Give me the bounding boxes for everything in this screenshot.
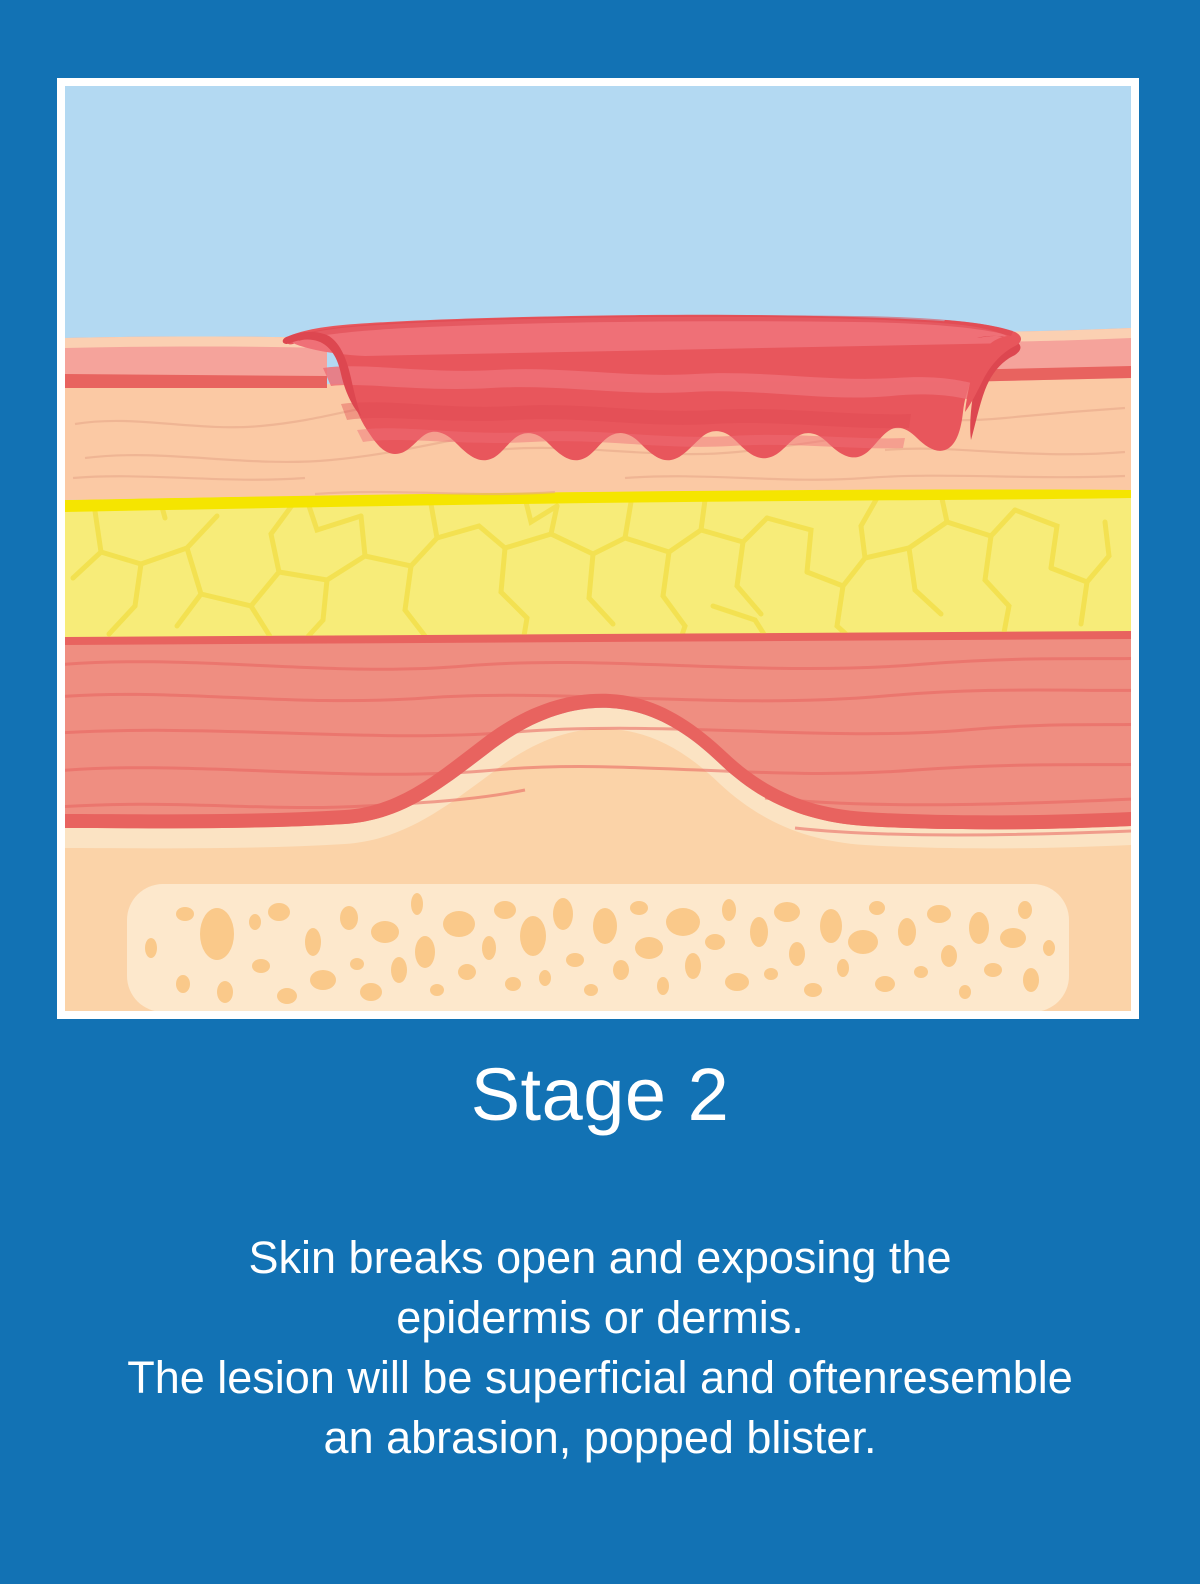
layer-bone-marrow [127,884,1069,1011]
description-line-4: an abrasion, popped blister. [40,1408,1160,1468]
caption-block: Stage 2 Skin breaks open and exposing th… [0,1058,1200,1467]
description-line-3: The lesion will be superficial and often… [40,1348,1160,1408]
stage-description: Skin breaks open and exposing the epider… [0,1228,1200,1467]
skin-cross-section-illustration [65,86,1131,1011]
illustration-frame [57,78,1139,1019]
description-line-2: epidermis or dermis. [40,1288,1160,1348]
epidermis-base-line-left [65,374,327,388]
description-line-1: Skin breaks open and exposing the [40,1228,1160,1288]
layer-subcutaneous-fat [65,490,1131,637]
skin-diagram-svg [65,86,1131,1011]
page-title: Stage 2 [0,1058,1200,1132]
